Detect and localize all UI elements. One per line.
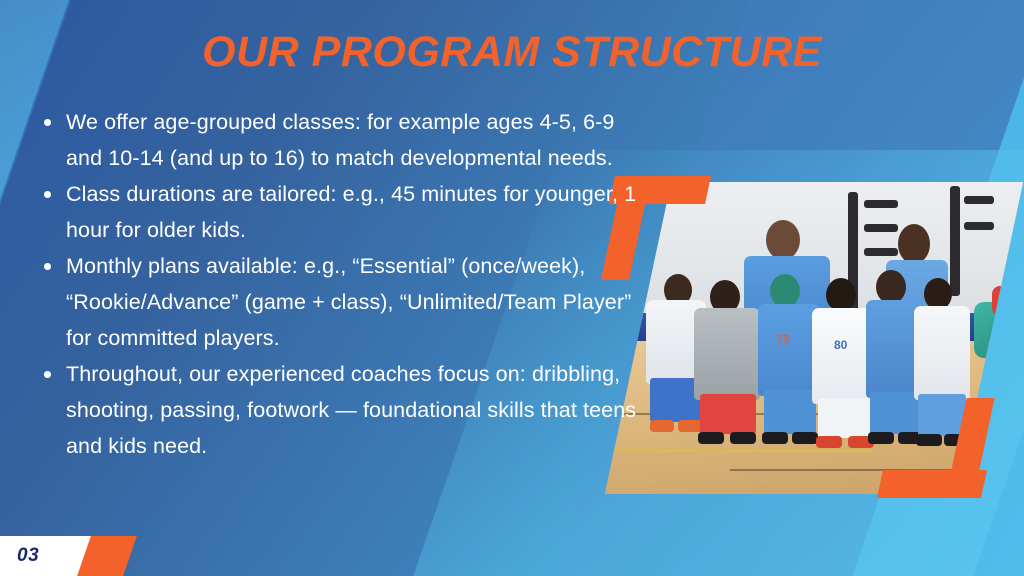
chair-rack-icon <box>864 200 898 208</box>
chair-rack-icon <box>964 196 994 204</box>
jersey-number-80: 80 <box>834 338 847 352</box>
chair-rack-icon <box>950 186 960 296</box>
kid-shoe <box>792 432 818 444</box>
page-title: OUR PROGRAM STRUCTURE <box>0 28 1024 77</box>
coach-head <box>766 220 800 260</box>
kid-body <box>694 308 760 400</box>
page-number: 03 <box>17 545 39 567</box>
list-item: Monthly plans available: e.g., “Essentia… <box>30 248 642 356</box>
kid-shoe <box>678 420 702 432</box>
slide: OUR PROGRAM STRUCTURE We offer age-group… <box>0 0 1024 576</box>
kid-shoe <box>730 432 756 444</box>
kid-shoe <box>762 432 788 444</box>
floor-line <box>605 450 871 452</box>
chair-rack-icon <box>964 222 994 230</box>
kid-shoe <box>868 432 894 444</box>
kid-body-jersey-73 <box>758 304 820 396</box>
kid-shoe <box>650 420 674 432</box>
kid-legs <box>818 398 874 438</box>
chair-rack-icon <box>864 224 898 232</box>
kid-head <box>770 274 800 308</box>
kid-legs <box>870 392 920 434</box>
photo-block: 73 80 <box>612 176 1002 498</box>
kid-head <box>826 278 856 312</box>
list-item: Class durations are tailored: e.g., 45 m… <box>30 176 642 248</box>
jersey-number-73: 73 <box>776 332 789 346</box>
list-item: We offer age-grouped classes: for exampl… <box>30 104 642 176</box>
kid-shoe <box>698 432 724 444</box>
kid-shoe <box>816 436 842 448</box>
chair-rack-icon <box>864 248 898 256</box>
list-item: Throughout, our experienced coaches focu… <box>30 356 642 464</box>
equipment-bag <box>974 302 1022 358</box>
kid-legs <box>764 390 816 434</box>
kid-head <box>876 270 906 304</box>
assistant-coach-head <box>898 224 930 264</box>
kid-shoe <box>916 434 942 446</box>
bullet-list: We offer age-grouped classes: for exampl… <box>30 104 642 464</box>
kid-legs <box>700 394 756 434</box>
kid-body <box>914 306 970 400</box>
equipment-bag <box>992 286 1023 316</box>
